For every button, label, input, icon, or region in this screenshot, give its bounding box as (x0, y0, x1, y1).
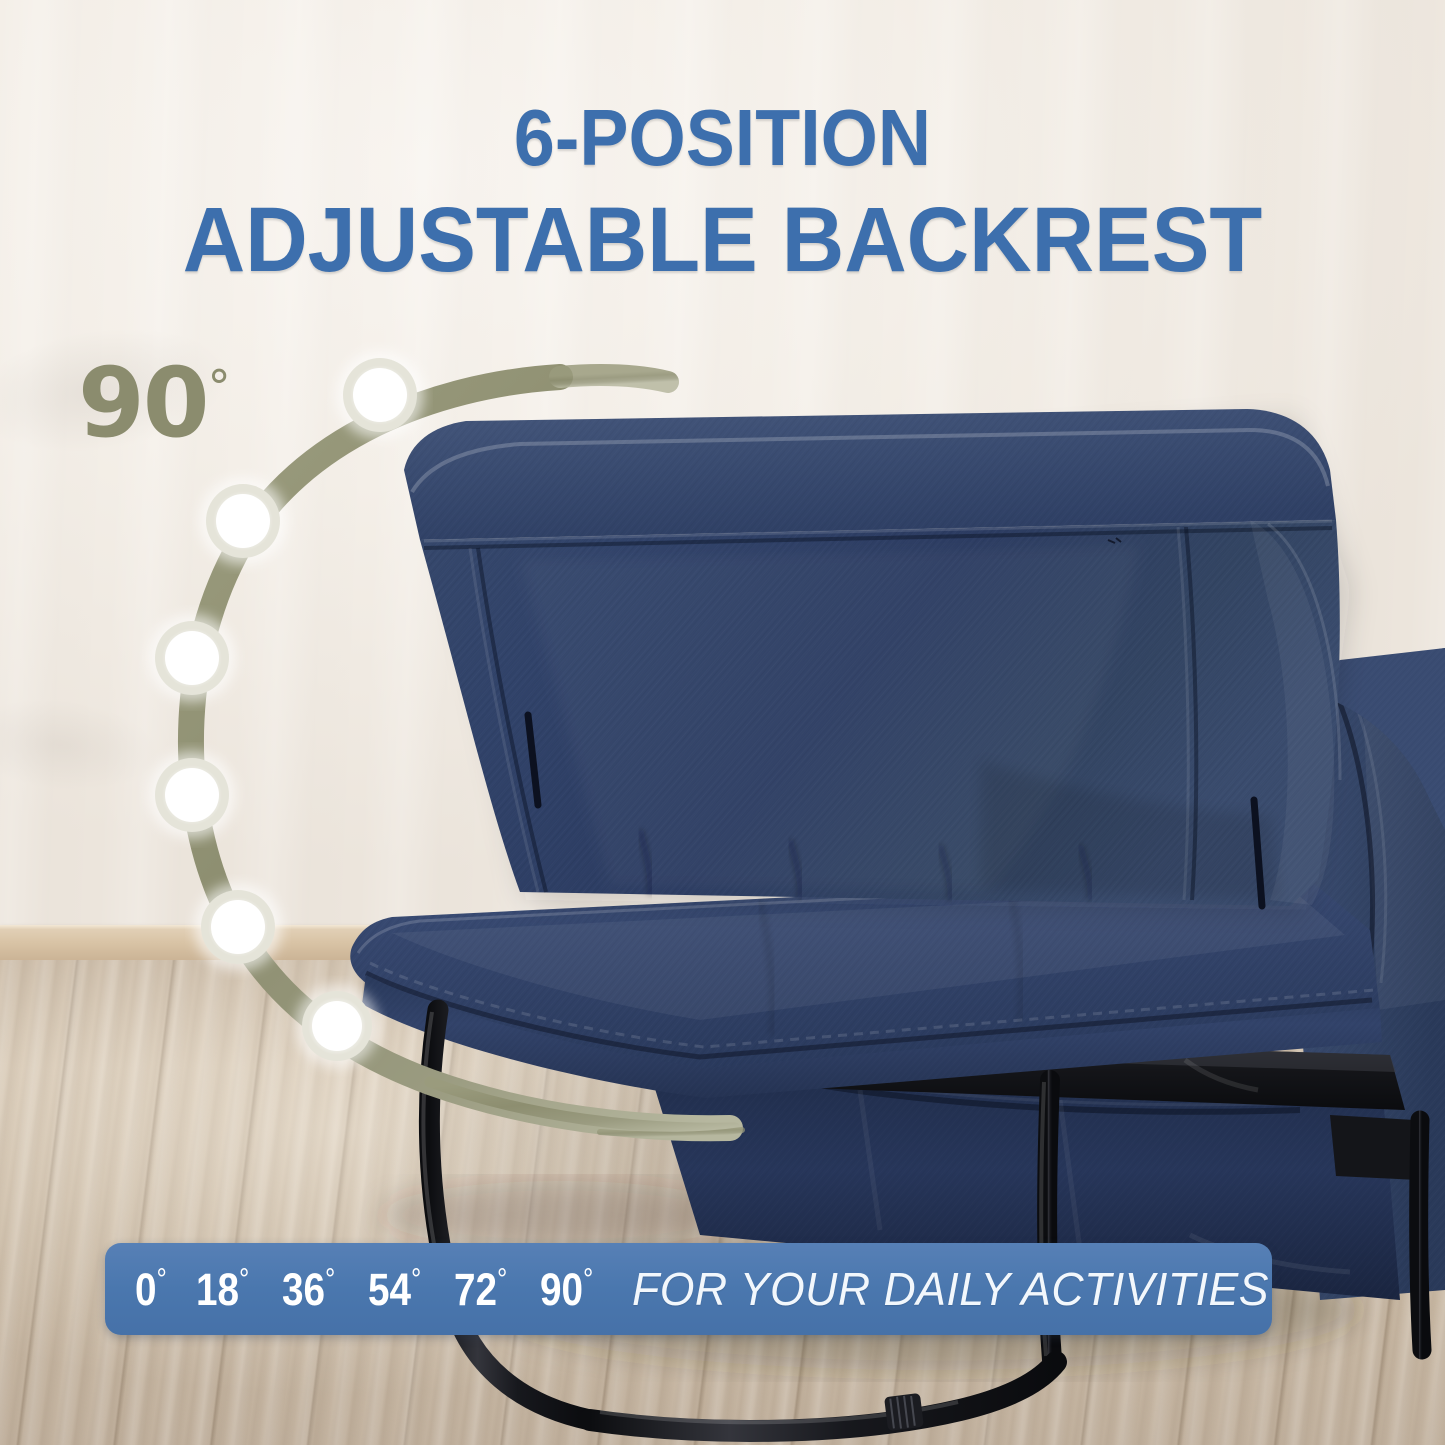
degree-symbol-icon: ° (411, 1263, 421, 1296)
arc-stop-90 (336, 351, 424, 439)
headline-line-2: ADJUSTABLE BACKREST (43, 194, 1401, 286)
arc-stop-36 (148, 751, 236, 839)
degree-chip-54: 54° (368, 1263, 421, 1316)
degree-list: 0° 18° 36° 54° 72° 90° (135, 1263, 626, 1316)
arc-stop-54 (148, 614, 236, 702)
arc-stop-18 (194, 883, 282, 971)
arc-stop-0 (295, 984, 379, 1068)
max-angle-value: 90 (78, 347, 208, 459)
degree-symbol-icon: ° (208, 360, 231, 414)
degree-chip-18-value: 18 (196, 1264, 239, 1315)
degree-symbol-icon: ° (583, 1263, 593, 1296)
degree-chip-72-value: 72 (454, 1264, 497, 1315)
product-marketing-image: 6-POSITION ADJUSTABLE BACKREST 90° 0° 18… (0, 0, 1445, 1445)
degree-symbol-icon: ° (497, 1263, 507, 1296)
degree-symbol-icon: ° (239, 1263, 249, 1296)
degree-chip-90: 90° (540, 1263, 593, 1316)
angle-positions-banner: 0° 18° 36° 54° 72° 90° FOR YOUR DAILY AC… (105, 1243, 1272, 1335)
degree-chip-36-value: 36 (282, 1264, 325, 1315)
degree-symbol-icon: ° (157, 1263, 167, 1296)
degree-chip-36: 36° (282, 1263, 335, 1316)
degree-chip-18: 18° (196, 1263, 249, 1316)
degree-chip-54-value: 54 (368, 1264, 411, 1315)
degree-symbol-icon: ° (325, 1263, 335, 1296)
degree-chip-0: 0° (135, 1263, 167, 1316)
headline-line-1: 6-POSITION (58, 98, 1387, 178)
degree-chip-72: 72° (454, 1263, 507, 1316)
degree-chip-0-value: 0 (135, 1264, 157, 1315)
degree-chip-90-value: 90 (540, 1264, 583, 1315)
arc-stop-72 (199, 477, 287, 565)
banner-tagline: FOR YOUR DAILY ACTIVITIES (632, 1262, 1269, 1316)
max-angle-label: 90° (78, 355, 231, 451)
